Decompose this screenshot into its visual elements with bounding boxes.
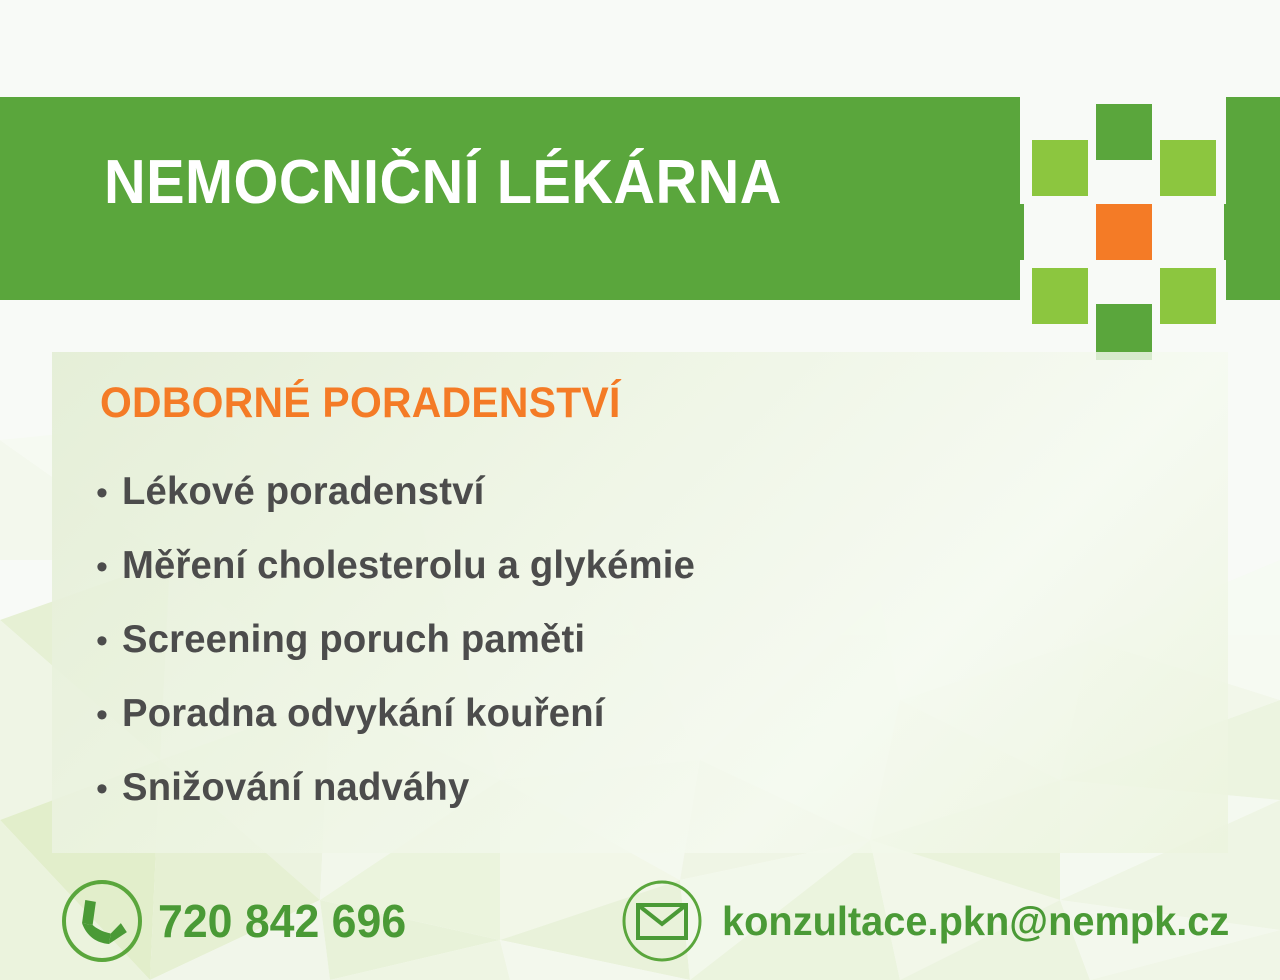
bullet-icon: •: [96, 624, 122, 658]
list-item: • Lékové poradenství: [96, 470, 1196, 544]
logo-square-bottom-right: [1160, 268, 1216, 324]
list-item: • Poradna odvykání kouření: [96, 692, 1196, 766]
page-title: NEMOCNIČNÍ LÉKÁRNA: [104, 152, 782, 214]
list-item: • Screening poruch paměti: [96, 618, 1196, 692]
logo-square-left: [968, 204, 1024, 260]
list-item-label: Screening poruch paměti: [122, 618, 585, 662]
logo-square-right: [1224, 204, 1280, 260]
list-item: • Měření cholesterolu a glykémie: [96, 544, 1196, 618]
bullet-icon: •: [96, 550, 122, 584]
phone-handset-icon: [58, 875, 146, 967]
section-heading: ODBORNÉ PORADENSTVÍ: [100, 379, 621, 428]
logo-square-top: [1096, 104, 1152, 160]
list-item-label: Poradna odvykání kouření: [122, 692, 605, 736]
logo-square-top-left: [1032, 140, 1088, 196]
poster-canvas: NEMOCNIČNÍ LÉKÁRNA ODBORNÉ PORADENSTVÍ •…: [0, 0, 1280, 980]
list-item-label: Snižování nadváhy: [122, 766, 469, 810]
pharmacy-cross-logo: [1028, 104, 1220, 296]
logo-square-top-right: [1160, 140, 1216, 196]
list-item: • Snižování nadváhy: [96, 766, 1196, 840]
bullet-icon: •: [96, 698, 122, 732]
envelope-icon: [618, 875, 706, 967]
contact-email[interactable]: konzultace.pkn@nempk.cz: [618, 875, 1245, 967]
logo-square-center-accent: [1096, 204, 1152, 260]
email-address[interactable]: konzultace.pkn@nempk.cz: [722, 898, 1229, 945]
logo-square-bottom-left: [1032, 268, 1088, 324]
bullet-icon: •: [96, 476, 122, 510]
header-band-right-segment: [1226, 97, 1280, 300]
phone-number[interactable]: 720 842 696: [158, 894, 406, 948]
services-list: • Lékové poradenství • Měření cholestero…: [96, 470, 1196, 840]
list-item-label: Měření cholesterolu a glykémie: [122, 544, 695, 588]
list-item-label: Lékové poradenství: [122, 470, 485, 514]
bullet-icon: •: [96, 772, 122, 806]
contact-phone[interactable]: 720 842 696: [58, 875, 414, 967]
